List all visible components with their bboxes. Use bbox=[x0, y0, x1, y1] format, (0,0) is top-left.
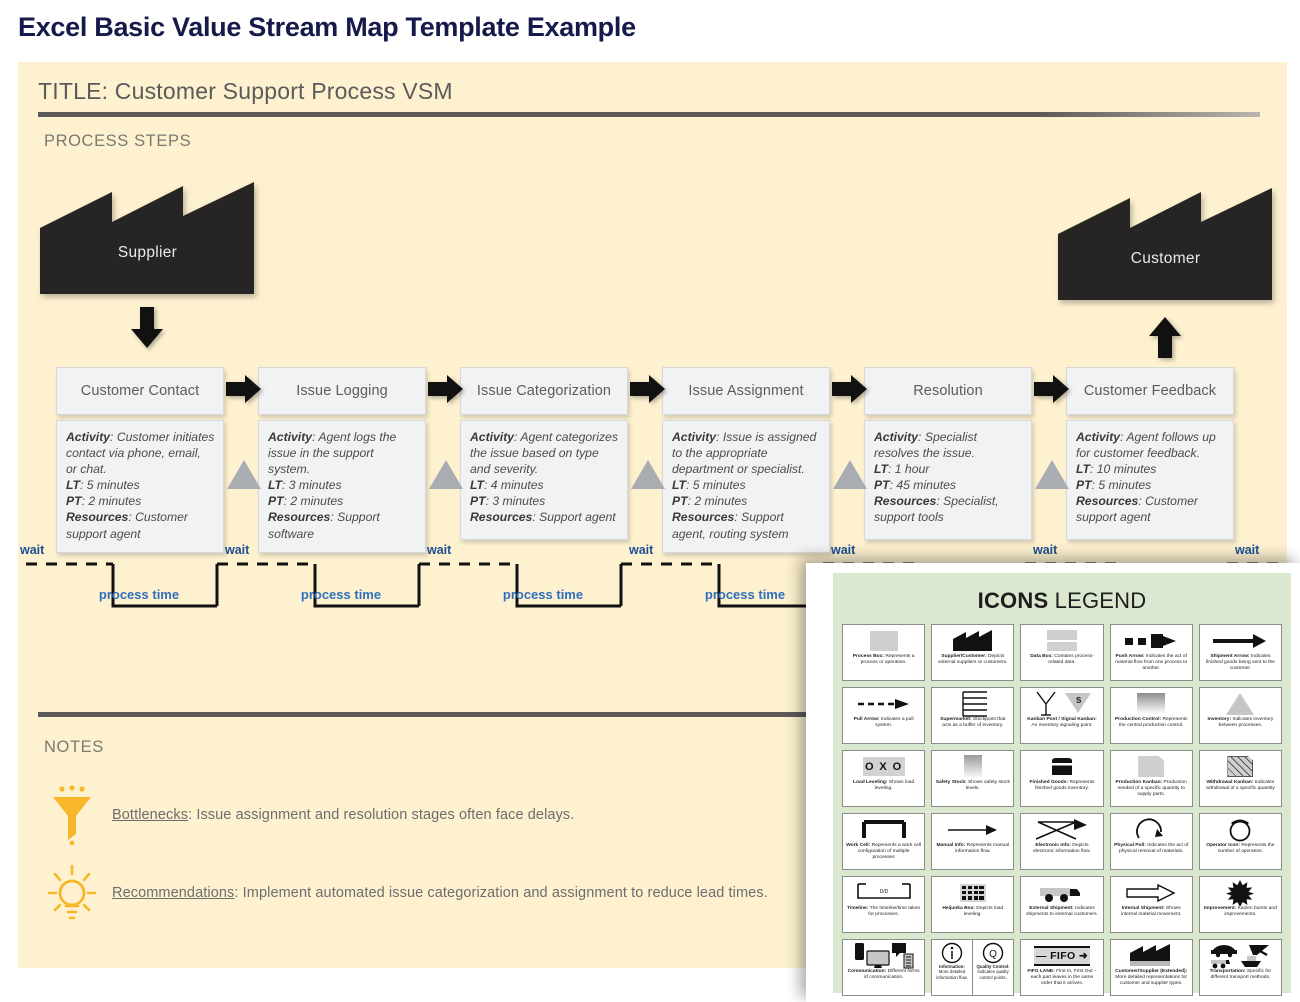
process-step-name: Customer Feedback bbox=[1066, 367, 1234, 415]
process-step-details: Activity: Specialist resolves the issue.… bbox=[864, 420, 1032, 540]
pt-value: 3 minutes bbox=[492, 494, 545, 508]
legend-item-production-kanban[interactable]: Production Kanban: Production needed of … bbox=[1110, 750, 1193, 807]
legend-item-customer-supplier-extended[interactable]: Customer/Supplier (Extended): More detai… bbox=[1110, 939, 1193, 996]
process-step-details: Activity: Agent logs the issue in the su… bbox=[258, 420, 426, 553]
legend-item-fifo-lane[interactable]: — FIFO ➜ FIFO LANE: First In, First Out … bbox=[1020, 939, 1103, 996]
legend-term: Quality Control: bbox=[976, 964, 1009, 969]
work-cell-icon bbox=[845, 816, 922, 843]
legend-item-process-box[interactable]: Process Box: Represents a process or ope… bbox=[842, 624, 925, 681]
pt-label: PT bbox=[470, 494, 486, 508]
resources-label: Resources bbox=[470, 510, 532, 524]
resources-value: Support agent bbox=[539, 510, 616, 524]
production-control-icon bbox=[1113, 690, 1190, 717]
lt-label: LT bbox=[1076, 462, 1090, 476]
activity-label: Activity bbox=[874, 430, 918, 444]
quality-control-icon: Q bbox=[974, 942, 1013, 964]
shipment-arrow-icon bbox=[1202, 627, 1279, 654]
legend-term: Physical Pull: bbox=[1114, 843, 1146, 848]
process-step-column[interactable]: Issue Assignment Activity: Issue is assi… bbox=[662, 367, 830, 553]
process-step-details: Activity: Customer initiates contact via… bbox=[56, 420, 224, 553]
legend-term: Withdrawal Kanban: bbox=[1206, 780, 1253, 785]
legend-desc: Shows safety stock levels. bbox=[966, 780, 1010, 791]
information-icon bbox=[933, 942, 971, 964]
legend-term: Data Box: bbox=[1030, 654, 1053, 659]
legend-item-push-arrow[interactable]: Push Arrow: Indicates the act of materia… bbox=[1110, 624, 1193, 681]
note-text: Bottlenecks: Issue assignment and resolu… bbox=[112, 807, 574, 823]
legend-desc: More detailed representations for custom… bbox=[1115, 975, 1187, 986]
legend-item-work-cell[interactable]: Work Cell: Represents a work cell config… bbox=[842, 813, 925, 870]
process-time-label: process time bbox=[266, 587, 416, 602]
pt-value: 45 minutes bbox=[896, 478, 956, 492]
legend-item-inventory[interactable]: Inventory: Indicates inventory between p… bbox=[1199, 687, 1282, 744]
resources-label: Resources bbox=[268, 510, 330, 524]
legend-item-improvement[interactable]: Improvement: Kaizen bursts and improveme… bbox=[1199, 876, 1282, 933]
page-title: Excel Basic Value Stream Map Template Ex… bbox=[18, 12, 636, 43]
supplier-label: Supplier bbox=[40, 244, 255, 262]
legend-item-manual-info[interactable]: Manual Info: Represents manual informati… bbox=[931, 813, 1014, 870]
funnel-icon bbox=[46, 784, 98, 846]
shipment-arrow-up-icon bbox=[1147, 317, 1183, 359]
wait-label: wait bbox=[427, 543, 451, 557]
legend-item-data-box[interactable]: Data Box: Contains process-related data. bbox=[1020, 624, 1103, 681]
note-term: Bottlenecks bbox=[112, 807, 188, 823]
activity-label: Activity bbox=[470, 430, 514, 444]
legend-half-quality-control[interactable]: Q Quality Control: Indicates quality con… bbox=[973, 940, 1014, 995]
lt-value: 3 minutes bbox=[289, 478, 342, 492]
legend-term: Supplier/Customer: bbox=[941, 654, 986, 659]
lt-label: LT bbox=[66, 478, 80, 492]
legend-term: Inventory: bbox=[1207, 717, 1231, 722]
pt-value: 2 minutes bbox=[88, 494, 141, 508]
screenshot-root: Excel Basic Value Stream Map Template Ex… bbox=[0, 0, 1300, 1002]
customer-label: Customer bbox=[1058, 250, 1273, 268]
pt-value: 2 minutes bbox=[694, 494, 747, 508]
note-term: Recommendations bbox=[112, 885, 234, 901]
process-step-name: Issue Logging bbox=[258, 367, 426, 415]
inventory-icon bbox=[1202, 690, 1279, 717]
lt-value: 1 hour bbox=[895, 462, 930, 476]
process-step-name: Issue Categorization bbox=[460, 367, 628, 415]
legend-term: Improvement: bbox=[1204, 906, 1236, 911]
legend-desc: Indicates a pull system. bbox=[875, 717, 913, 728]
legend-term: Internal Shipment: bbox=[1122, 906, 1165, 911]
legend-desc: Indicates quality control points. bbox=[977, 969, 1009, 979]
push-arrow-icon bbox=[226, 374, 262, 404]
manual-info-icon bbox=[934, 816, 1011, 843]
push-arrow-icon bbox=[630, 374, 666, 404]
lt-value: 4 minutes bbox=[491, 478, 544, 492]
transportation-icon bbox=[1202, 942, 1279, 969]
fifo-lane-icon: — FIFO ➜ bbox=[1023, 942, 1100, 969]
legend-term: Production Kanban: bbox=[1115, 780, 1162, 785]
improvement-icon bbox=[1202, 879, 1279, 906]
legend-term: Push Arrow: bbox=[1116, 654, 1145, 659]
pt-label: PT bbox=[672, 494, 688, 508]
vsm-title: TITLE: Customer Support Process VSM bbox=[38, 78, 453, 105]
legend-term: Manual Info: bbox=[936, 843, 965, 848]
legend-half-information[interactable]: Information: More detailed information f… bbox=[932, 940, 973, 995]
supplier-factory-icon: Supplier bbox=[40, 182, 255, 295]
inventory-triangle-icon bbox=[832, 458, 868, 490]
activity-label: Activity bbox=[268, 430, 312, 444]
legend-term: Shipment Arrow: bbox=[1210, 654, 1249, 659]
legend-desc: More detailed information flow. bbox=[936, 969, 968, 979]
legend-item-pull-arrow[interactable]: Pull Arrow: Indicates a pull system. bbox=[842, 687, 925, 744]
legend-title-rest: LEGEND bbox=[1048, 588, 1146, 613]
legend-desc: The timeline/time taken for processes. bbox=[868, 906, 920, 917]
pull-arrow-icon bbox=[845, 690, 922, 717]
legend-item-electronic-info[interactable]: Electronic Info: Depicts electronic info… bbox=[1020, 813, 1103, 870]
timeline-icon: D/D bbox=[845, 879, 922, 906]
data-box-icon bbox=[1023, 627, 1100, 654]
physical-pull-icon bbox=[1113, 816, 1190, 843]
colon: : bbox=[110, 430, 117, 444]
wait-label: wait bbox=[831, 543, 855, 557]
legend-term: Work Cell: bbox=[846, 843, 870, 848]
title-divider bbox=[38, 112, 1260, 117]
lt-label: LT bbox=[268, 478, 282, 492]
icons-legend-overlay: ICONS LEGEND Process Box: Represents a p… bbox=[806, 563, 1300, 1002]
svg-text:Q: Q bbox=[989, 949, 997, 960]
resources-label: Resources bbox=[66, 510, 128, 524]
push-arrow-icon bbox=[428, 374, 464, 404]
process-time-label: process time bbox=[64, 587, 214, 602]
activity-label: Activity bbox=[66, 430, 110, 444]
lt-label: LT bbox=[470, 478, 484, 492]
legend-term: Supermarket: bbox=[940, 717, 972, 722]
legend-desc: An inventory signaling point. bbox=[1031, 723, 1092, 728]
electronic-info-icon bbox=[1023, 816, 1100, 843]
legend-desc: Contains process-related data. bbox=[1048, 654, 1093, 665]
legend-item-information-quality-control[interactable]: Information: More detailed information f… bbox=[931, 939, 1014, 996]
note-body: : Implement automated issue categorizati… bbox=[234, 885, 767, 901]
legend-item-physical-pull[interactable]: Physical Pull: Indicates the act of phys… bbox=[1110, 813, 1193, 870]
legend-term: Production Control: bbox=[1115, 717, 1161, 722]
lt-label: LT bbox=[672, 478, 686, 492]
legend-term: Kanban Post / Signal Kanban: bbox=[1027, 717, 1097, 722]
process-step-column[interactable]: Resolution Activity: Specialist resolves… bbox=[864, 367, 1032, 540]
process-steps-label: PROCESS STEPS bbox=[44, 132, 191, 151]
legend-item-operator[interactable]: Operator Icon: Represents the number of … bbox=[1199, 813, 1282, 870]
production-kanban-icon bbox=[1113, 753, 1190, 780]
legend-item-transportation[interactable]: Transportation: Specific for different t… bbox=[1199, 939, 1282, 996]
legend-item-shipment-arrow[interactable]: Shipment Arrow: Indicates finished goods… bbox=[1199, 624, 1282, 681]
push-arrow-icon bbox=[1034, 374, 1070, 404]
legend-item-production-control[interactable]: Production Control: Represents the centr… bbox=[1110, 687, 1193, 744]
communication-icon bbox=[845, 942, 922, 969]
note-body: : Issue assignment and resolution stages… bbox=[188, 807, 574, 823]
wait-label: wait bbox=[225, 543, 249, 557]
process-step-details: Activity: Agent categorizes the issue ba… bbox=[460, 420, 628, 540]
legend-term: Timeline: bbox=[847, 906, 868, 911]
inventory-triangle-icon bbox=[630, 458, 666, 490]
legend-item-supplier-customer[interactable]: Supplier/Customer: Depicts external supp… bbox=[931, 624, 1014, 681]
push-arrow-icon bbox=[832, 374, 868, 404]
wait-label: wait bbox=[1033, 543, 1057, 557]
legend-item-supermarket[interactable]: Supermarket: Stockpoint that acts as a b… bbox=[931, 687, 1014, 744]
pt-value: 5 minutes bbox=[1098, 478, 1151, 492]
note-row: Bottlenecks: Issue assignment and resolu… bbox=[46, 784, 574, 846]
process-box-icon bbox=[845, 627, 922, 654]
process-time-label: process time bbox=[468, 587, 618, 602]
legend-item-finished-goods[interactable]: Finished Goods: Represents finished good… bbox=[1020, 750, 1103, 807]
wait-label: wait bbox=[1235, 543, 1259, 557]
legend-item-withdrawal-kanban[interactable]: Withdrawal Kanban: Indicates withdrawal … bbox=[1199, 750, 1282, 807]
process-step-name: Issue Assignment bbox=[662, 367, 830, 415]
wait-label: wait bbox=[629, 543, 653, 557]
pt-label: PT bbox=[1076, 478, 1092, 492]
process-step-column[interactable]: Customer Feedback Activity: Agent follow… bbox=[1066, 367, 1234, 540]
external-shipment-icon bbox=[1023, 879, 1100, 906]
inventory-triangle-icon bbox=[1034, 458, 1070, 490]
legend-term: Heijunka Box: bbox=[942, 906, 975, 911]
kanban-post-signal-kanban-icon: S bbox=[1023, 690, 1100, 717]
legend-grid: Process Box: Represents a process or ope… bbox=[842, 624, 1282, 996]
svg-text:S: S bbox=[1076, 696, 1082, 705]
lt-value: 10 minutes bbox=[1097, 462, 1157, 476]
supplier-customer-icon bbox=[934, 627, 1011, 654]
finished-goods-icon bbox=[1023, 753, 1100, 780]
process-step-column[interactable]: Issue Logging Activity: Agent logs the i… bbox=[258, 367, 426, 553]
notes-label: NOTES bbox=[44, 738, 104, 757]
resources-label: Resources bbox=[1076, 494, 1138, 508]
legend-term: Load Leveling: bbox=[853, 780, 888, 785]
legend-term: Safety Stock: bbox=[936, 780, 967, 785]
pt-label: PT bbox=[874, 478, 890, 492]
activity-label: Activity bbox=[672, 430, 716, 444]
supermarket-icon bbox=[934, 690, 1011, 717]
heijunka-box-icon bbox=[934, 879, 1011, 906]
inventory-triangle-icon bbox=[428, 458, 464, 490]
lt-value: 5 minutes bbox=[87, 478, 140, 492]
legend-item-heijunka-box[interactable]: Heijunka Box: Depicts load leveling. bbox=[931, 876, 1014, 933]
legend-term: Process Box: bbox=[853, 654, 884, 659]
process-step-name: Resolution bbox=[864, 367, 1032, 415]
legend-term: Transportation: bbox=[1210, 969, 1246, 974]
customer-supplier-extended-icon bbox=[1113, 942, 1190, 969]
legend-item-external-shipment[interactable]: External Shipment: Indicates shipments t… bbox=[1020, 876, 1103, 933]
safety-stock-icon bbox=[934, 753, 1011, 780]
note-text: Recommendations: Implement automated iss… bbox=[112, 885, 768, 901]
pt-value: 2 minutes bbox=[290, 494, 343, 508]
push-arrow-icon bbox=[1113, 627, 1190, 654]
withdrawal-kanban-icon bbox=[1202, 753, 1279, 780]
legend-term: Finished Goods: bbox=[1030, 780, 1069, 785]
process-step-name: Customer Contact bbox=[56, 367, 224, 415]
process-step-column[interactable]: Issue Categorization Activity: Agent cat… bbox=[460, 367, 628, 540]
lightbulb-icon bbox=[46, 862, 98, 924]
inventory-triangle-icon bbox=[226, 458, 262, 490]
operator-icon bbox=[1202, 816, 1279, 843]
legend-term: Electronic Info: bbox=[1035, 843, 1071, 848]
legend-term: Pull Arrow: bbox=[854, 717, 880, 722]
resources-label: Resources bbox=[672, 510, 734, 524]
legend-title: ICONS LEGEND bbox=[842, 588, 1282, 614]
process-step-details: Activity: Agent follows up for customer … bbox=[1066, 420, 1234, 540]
pt-label: PT bbox=[268, 494, 284, 508]
legend-term: Communication: bbox=[848, 969, 887, 974]
legend-term: Operator Icon: bbox=[1206, 843, 1240, 848]
customer-factory-icon: Customer bbox=[1058, 188, 1273, 301]
shipment-arrow-down-icon bbox=[129, 307, 165, 349]
legend-term: Customer/Supplier (Extended): bbox=[1115, 969, 1187, 974]
svg-text:D/D: D/D bbox=[879, 889, 888, 895]
legend-title-bold: ICONS bbox=[978, 588, 1049, 613]
lt-label: LT bbox=[874, 462, 888, 476]
internal-shipment-icon bbox=[1113, 879, 1190, 906]
legend-item-timeline[interactable]: D/D Timeline: The timeline/time taken fo… bbox=[842, 876, 925, 933]
lt-value: 5 minutes bbox=[693, 478, 746, 492]
note-row: Recommendations: Implement automated iss… bbox=[46, 862, 768, 924]
pt-label: PT bbox=[66, 494, 82, 508]
legend-term: Information: bbox=[939, 964, 965, 969]
legend-item-load-leveling[interactable]: OXO Load Leveling: Shows load leveling. bbox=[842, 750, 925, 807]
process-step-details: Activity: Issue is assigned to the appro… bbox=[662, 420, 830, 553]
legend-term: FIFO LANE: bbox=[1027, 969, 1054, 974]
legend-item-kanban-post-signal-kanban[interactable]: S Kanban Post / Signal Kanban: An invent… bbox=[1020, 687, 1103, 744]
wait-label: wait bbox=[20, 543, 44, 557]
resources-label: Resources bbox=[874, 494, 936, 508]
load-leveling-icon: OXO bbox=[845, 753, 922, 780]
legend-term: External Shipment: bbox=[1029, 906, 1074, 911]
legend-item-internal-shipment[interactable]: Internal Shipment: Shows internal materi… bbox=[1110, 876, 1193, 933]
icons-legend-card: ICONS LEGEND Process Box: Represents a p… bbox=[833, 573, 1291, 993]
activity-label: Activity bbox=[1076, 430, 1120, 444]
legend-item-safety-stock[interactable]: Safety Stock: Shows safety stock levels. bbox=[931, 750, 1014, 807]
process-time-label: process time bbox=[670, 587, 820, 602]
legend-item-communication[interactable]: Communication: Different forms of commun… bbox=[842, 939, 925, 996]
process-step-column[interactable]: Customer Contact Activity: Customer init… bbox=[56, 367, 224, 553]
